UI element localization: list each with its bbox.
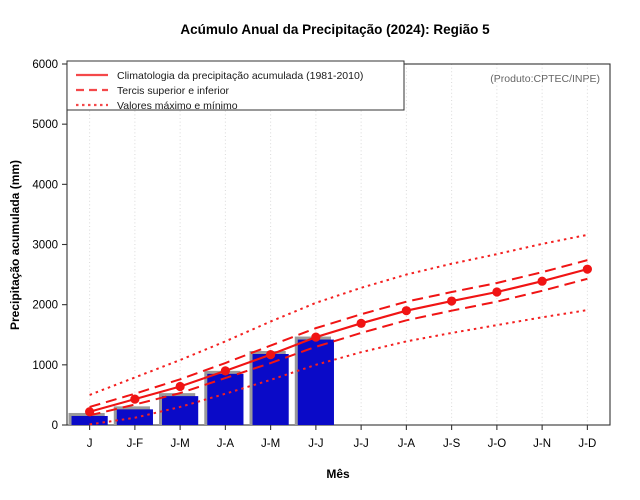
y-tick-label: 6000: [32, 59, 58, 71]
legend-label: Valores máximo e mínimo: [117, 100, 238, 112]
gridlines: [90, 64, 588, 425]
climatology-marker: [402, 306, 411, 315]
x-tick-label: J-A: [217, 438, 235, 450]
climatology-marker: [357, 319, 366, 328]
x-tick-label: J-J: [353, 438, 368, 450]
x-tick-label: J-O: [488, 438, 507, 450]
chart-title: Acúmulo Anual da Precipitação (2024): Re…: [180, 22, 490, 37]
plot-frame: [67, 64, 610, 425]
y-tick-label: 5000: [32, 119, 58, 131]
climatology-marker: [85, 407, 94, 416]
climatology-marker: [221, 366, 230, 375]
climatology-marker: [447, 296, 456, 305]
x-axis-title: Mês: [326, 467, 350, 481]
x-tick-label: J-M: [171, 438, 190, 450]
x-tick-label: J-M: [261, 438, 280, 450]
y-axis: 0100020003000400050006000 Precipitação a…: [8, 59, 67, 432]
bar: [253, 354, 289, 425]
y-tick-label: 2000: [32, 300, 58, 312]
climatology-marker: [266, 350, 275, 359]
producer-annotation: (Produto:CPTEC/INPE): [490, 73, 600, 85]
x-tick-label: J-J: [308, 438, 323, 450]
series-line: [90, 260, 588, 407]
x-tick-label: J: [87, 438, 93, 450]
climatology-marker: [583, 265, 592, 274]
x-tick-label: J-N: [533, 438, 551, 450]
x-tick-label: J-D: [578, 438, 596, 450]
series-line: [90, 235, 588, 395]
legend-label: Tercis superior e inferior: [117, 85, 230, 97]
y-tick-label: 0: [52, 420, 58, 432]
climatology-marker: [492, 287, 501, 296]
climatology-marker: [538, 277, 547, 286]
y-tick-label: 4000: [32, 179, 58, 191]
legend-label: Climatologia da precipitação acumulada (…: [117, 70, 363, 82]
chart-legend: Climatologia da precipitação acumulada (…: [67, 61, 404, 112]
climatology-marker: [130, 395, 139, 404]
y-tick-label: 1000: [32, 360, 58, 372]
y-axis-title: Precipitação acumulada (mm): [8, 160, 22, 330]
x-tick-label: J-S: [443, 438, 461, 450]
x-tick-label: J-F: [127, 438, 144, 450]
y-tick-label: 3000: [32, 240, 58, 252]
x-tick-label: J-A: [398, 438, 416, 450]
chart-figure: Acúmulo Anual da Precipitação (2024): Re…: [0, 0, 640, 500]
climatology-marker: [176, 382, 185, 391]
precipitation-chart: Acúmulo Anual da Precipitação (2024): Re…: [0, 0, 640, 500]
x-axis: JJ-FJ-MJ-AJ-MJ-JJ-JJ-AJ-SJ-OJ-NJ-D Mês: [87, 425, 597, 481]
climatology-marker: [311, 333, 320, 342]
